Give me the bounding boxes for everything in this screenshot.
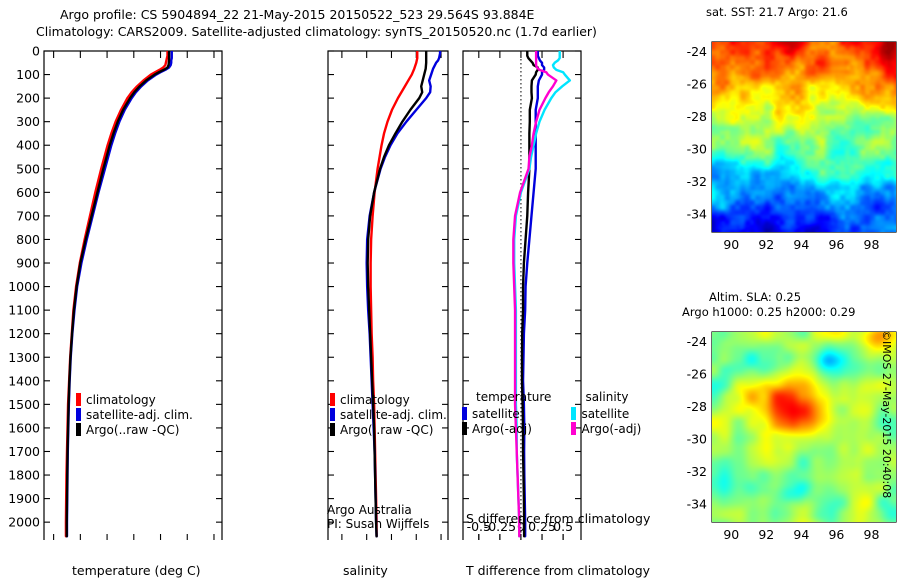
svg-text:400: 400 bbox=[16, 138, 40, 153]
header-line-2: Climatology: CARS2009. Satellite-adjuste… bbox=[36, 24, 597, 39]
legend-label: Argo(..raw -QC) bbox=[340, 423, 433, 437]
legend-label: satellite bbox=[581, 407, 629, 421]
sla-map-panel: -24-26-28-30-32-349092949698 bbox=[660, 310, 900, 575]
difference-legend: temperature satellite Argo(-adj) salinit… bbox=[462, 390, 641, 435]
svg-text:90: 90 bbox=[723, 527, 739, 542]
legend-label: satellite bbox=[472, 407, 520, 421]
legend-label: Argo(-adj) bbox=[472, 422, 532, 436]
svg-text:-26: -26 bbox=[687, 77, 707, 92]
svg-text:1100: 1100 bbox=[8, 303, 40, 318]
legend-item: satellite bbox=[571, 405, 641, 420]
svg-text:1500: 1500 bbox=[8, 397, 40, 412]
svg-text:98: 98 bbox=[864, 527, 880, 542]
legend-item: satellite bbox=[462, 405, 551, 420]
difference-xaxis-label-bottom: T difference from climatology bbox=[466, 563, 650, 578]
temperature-legend: climatology satellite-adj. clim. Argo(..… bbox=[76, 391, 193, 436]
legend-swatch-temperature-argo-adj bbox=[462, 422, 467, 435]
legend-item: Argo(-adj) bbox=[571, 420, 641, 435]
temperature-plot: 0100200300400500600700800900100011001200… bbox=[0, 40, 230, 540]
legend-label: climatology bbox=[86, 393, 156, 407]
svg-text:92: 92 bbox=[758, 237, 774, 252]
argo-australia-note: Argo Australia bbox=[327, 503, 412, 517]
svg-text:-24: -24 bbox=[687, 334, 707, 349]
svg-text:2000: 2000 bbox=[8, 515, 40, 530]
legend-swatch-salinity-satellite bbox=[571, 407, 576, 420]
svg-text:92: 92 bbox=[758, 527, 774, 542]
difference-panel: -2-1012-0.5-0.2500.250.5 bbox=[455, 40, 660, 540]
svg-text:-28: -28 bbox=[687, 109, 707, 124]
svg-text:98: 98 bbox=[864, 237, 880, 252]
header-line-1: Argo profile: CS 5904894_22 21-May-2015 … bbox=[60, 7, 534, 22]
legend-item: Argo(..raw -QC) bbox=[330, 421, 447, 436]
svg-text:1000: 1000 bbox=[8, 279, 40, 294]
legend-item: satellite-adj. clim. bbox=[76, 406, 193, 421]
svg-text:0: 0 bbox=[32, 44, 40, 59]
sla-map-title-line1: Altim. SLA: 0.25 bbox=[709, 290, 801, 304]
svg-text:1600: 1600 bbox=[8, 420, 40, 435]
svg-text:-32: -32 bbox=[687, 174, 707, 189]
sst-map-panel: -24-26-28-30-32-349092949698 bbox=[660, 20, 900, 285]
svg-text:-26: -26 bbox=[687, 367, 707, 382]
svg-text:-24: -24 bbox=[687, 44, 707, 59]
salinity-plot: 3434.53535.536 bbox=[230, 40, 460, 540]
legend-column-title: salinity bbox=[585, 390, 641, 405]
svg-text:-34: -34 bbox=[687, 207, 707, 222]
svg-text:1300: 1300 bbox=[8, 350, 40, 365]
legend-item: Argo(-adj) bbox=[462, 420, 551, 435]
svg-text:-30: -30 bbox=[687, 142, 707, 157]
svg-text:700: 700 bbox=[16, 208, 40, 223]
salinity-legend: climatology satellite-adj. clim. Argo(..… bbox=[330, 391, 447, 436]
imos-credit: ©IMOS 27-May-2015 20:40:08 bbox=[880, 330, 893, 498]
difference-legend-column-temperature: temperature satellite Argo(-adj) bbox=[462, 390, 551, 435]
svg-text:94: 94 bbox=[793, 237, 809, 252]
svg-text:90: 90 bbox=[723, 237, 739, 252]
temperature-panel: 0100200300400500600700800900100011001200… bbox=[0, 40, 230, 540]
legend-item: climatology bbox=[76, 391, 193, 406]
svg-text:-32: -32 bbox=[687, 464, 707, 479]
temperature-xaxis-label: temperature (deg C) bbox=[72, 563, 201, 578]
svg-text:1800: 1800 bbox=[8, 468, 40, 483]
svg-text:100: 100 bbox=[16, 67, 40, 82]
legend-item: climatology bbox=[330, 391, 447, 406]
legend-item: Argo(..raw -QC) bbox=[76, 421, 193, 436]
svg-text:800: 800 bbox=[16, 232, 40, 247]
legend-label: Argo(-adj) bbox=[581, 422, 641, 436]
salinity-xaxis-label: salinity bbox=[343, 563, 388, 578]
legend-swatch-satellite-adj-clim bbox=[76, 408, 81, 421]
legend-label: climatology bbox=[340, 393, 410, 407]
legend-item: satellite-adj. clim. bbox=[330, 406, 447, 421]
svg-text:-30: -30 bbox=[687, 432, 707, 447]
legend-swatch-climatology bbox=[76, 393, 81, 406]
legend-label: satellite-adj. clim. bbox=[340, 408, 447, 422]
svg-text:500: 500 bbox=[16, 161, 40, 176]
svg-text:200: 200 bbox=[16, 91, 40, 106]
svg-text:1400: 1400 bbox=[8, 373, 40, 388]
legend-column-title: temperature bbox=[476, 390, 551, 405]
difference-legend-column-salinity: salinity satellite Argo(-adj) bbox=[571, 390, 641, 435]
salinity-panel: 3434.53535.536 bbox=[230, 40, 460, 540]
svg-text:600: 600 bbox=[16, 185, 40, 200]
svg-text:900: 900 bbox=[16, 256, 40, 271]
legend-swatch-argo-raw bbox=[330, 423, 335, 436]
legend-swatch-argo-raw bbox=[76, 423, 81, 436]
legend-swatch-climatology bbox=[330, 393, 335, 406]
difference-plot: -2-1012-0.5-0.2500.250.5 bbox=[455, 40, 660, 540]
legend-label: Argo(..raw -QC) bbox=[86, 423, 179, 437]
sla-map-field bbox=[712, 332, 896, 522]
svg-text:96: 96 bbox=[828, 237, 844, 252]
legend-label: satellite-adj. clim. bbox=[86, 408, 193, 422]
difference-xaxis-label-top: S difference from climatology bbox=[466, 511, 650, 526]
legend-swatch-salinity-argo-adj bbox=[571, 422, 576, 435]
svg-text:300: 300 bbox=[16, 114, 40, 129]
svg-text:96: 96 bbox=[828, 527, 844, 542]
svg-text:-34: -34 bbox=[687, 497, 707, 512]
legend-swatch-satellite-adj-clim bbox=[330, 408, 335, 421]
legend-swatch-temperature-satellite bbox=[462, 407, 467, 420]
svg-text:94: 94 bbox=[793, 527, 809, 542]
svg-text:1200: 1200 bbox=[8, 326, 40, 341]
sst-map-title: sat. SST: 21.7 Argo: 21.6 bbox=[706, 5, 848, 19]
pi-note: PI: Susan Wijffels bbox=[327, 517, 429, 531]
svg-text:-28: -28 bbox=[687, 399, 707, 414]
svg-text:1700: 1700 bbox=[8, 444, 40, 459]
svg-text:1900: 1900 bbox=[8, 491, 40, 506]
sst-map-field bbox=[712, 42, 896, 232]
